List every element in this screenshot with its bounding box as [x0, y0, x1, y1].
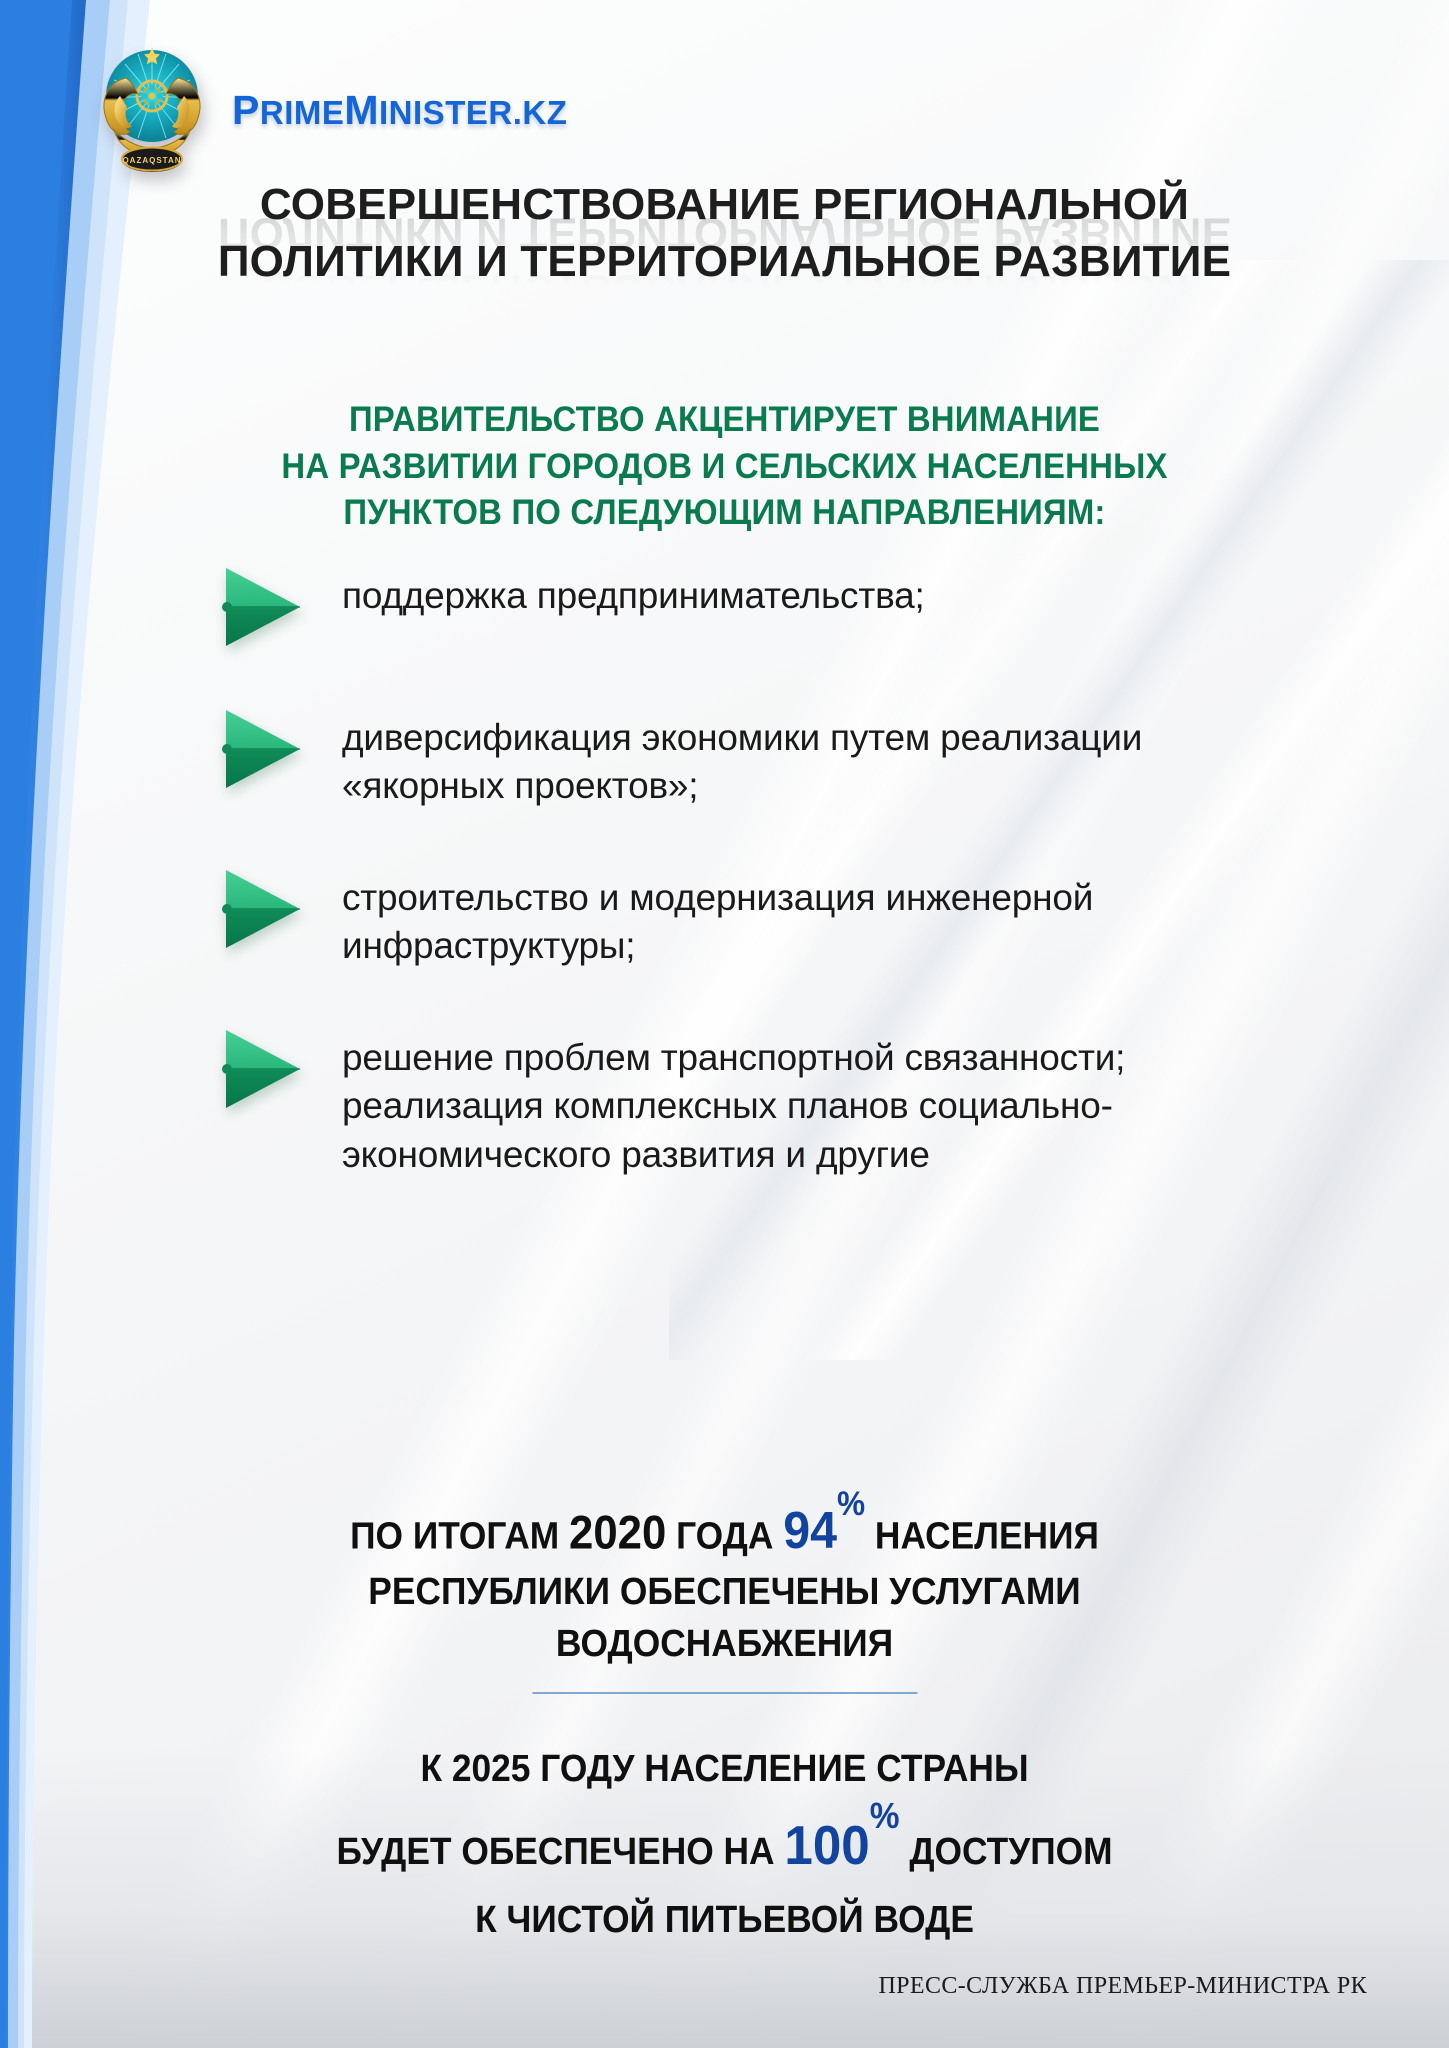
svg-text:QAZAQSTAN: QAZAQSTAN — [122, 156, 181, 165]
brand-text-p: P — [232, 87, 260, 133]
stat-2025-percent-sign: % — [870, 1795, 900, 1836]
page-title-line-1: СОВЕРШЕНСТВОВАНИЕ РЕГИОНАЛЬНОЙ — [0, 176, 1449, 233]
stat-water-2025: К 2025 ГОДУ НАСЕЛЕНИЕ СТРАНЫ БУДЕТ ОБЕСП… — [162, 1739, 1286, 1951]
stat-2025-suffix: ДОСТУПОМ — [899, 1831, 1112, 1873]
green-arrow-icon — [218, 564, 308, 650]
directions-list: поддержка предпринимательства; диверсифи… — [218, 560, 1218, 1231]
brand-text-m: M — [344, 87, 379, 133]
stat-2025-line-2: БУДЕТ ОБЕСПЕЧЕНО НА 100% ДОСТУПОМ — [162, 1801, 1286, 1890]
list-item: поддержка предпринимательства; — [218, 560, 1218, 650]
stat-2020-percent-sign: % — [837, 1485, 865, 1523]
stat-2020-year: 2020 — [569, 1505, 666, 1558]
list-item-text: поддержка предпринимательства; — [342, 560, 925, 620]
stat-2025-prefix: БУДЕТ ОБЕСПЕЧЕНО НА — [336, 1831, 784, 1873]
section-divider — [532, 1692, 917, 1694]
list-item-text: диверсификация экономики путем реализаци… — [342, 702, 1218, 810]
stat-2020-suffix: НАСЕЛЕНИЯ — [865, 1515, 1099, 1557]
page-title-block: СОВЕРШЕНСТВОВАНИЕ РЕГИОНАЛЬНОЙ ПОЛИТИКИ … — [0, 176, 1449, 290]
green-arrow-icon — [218, 706, 308, 792]
green-arrow-icon — [218, 866, 308, 952]
brand-text-rime: RIME — [260, 94, 345, 131]
brand-text-inister: INISTER — [379, 94, 513, 131]
kazakhstan-emblem-icon: QAZAQSTAN — [96, 42, 208, 178]
list-item-text: строительство и модернизация инженерной … — [342, 862, 1218, 970]
stat-2025-percent: 100% — [784, 1814, 899, 1876]
page-title-line-2: ПОЛИТИКИ И ТЕРРИТОРИАЛЬНОЕ РАЗВИТИЕ — [0, 233, 1449, 290]
stat-2020-percent: 94% — [783, 1502, 865, 1560]
page-title: СОВЕРШЕНСТВОВАНИЕ РЕГИОНАЛЬНОЙ ПОЛИТИКИ … — [0, 176, 1449, 290]
stat-water-2020: ПО ИТОГАМ 2020 ГОДА 94% НАСЕЛЕНИЯ РЕСПУБ… — [162, 1496, 1286, 1670]
stat-2020-percent-value: 94 — [783, 1502, 837, 1560]
stat-2020-line-1: ПО ИТОГАМ 2020 ГОДА 94% НАСЕЛЕНИЯ — [162, 1496, 1286, 1567]
subtitle-line-1: ПРАВИТЕЛЬСТВО АКЦЕНТИРУЕТ ВНИМАНИЕ — [43, 397, 1405, 444]
brand-wordmark: PRIMEMINISTER.KZ — [232, 87, 567, 134]
subtitle-line-3: ПУНКТОВ ПО СЛЕДУЮЩИМ НАПРАВЛЕНИЯМ: — [43, 490, 1405, 537]
stat-2025-percent-value: 100 — [784, 1814, 869, 1876]
subtitle: ПРАВИТЕЛЬСТВО АКЦЕНТИРУЕТ ВНИМАНИЕ НА РА… — [43, 397, 1405, 537]
list-item: решение проблем транспортной связанности… — [218, 1022, 1218, 1178]
list-item: диверсификация экономики путем реализаци… — [218, 702, 1218, 810]
green-arrow-icon — [218, 1026, 308, 1112]
subtitle-line-2: НА РАЗВИТИИ ГОРОДОВ И СЕЛЬСКИХ НАСЕЛЕННЫ… — [43, 444, 1405, 491]
list-item: строительство и модернизация инженерной … — [218, 862, 1218, 970]
stat-2020-line-2: РЕСПУБЛИКИ ОБЕСПЕЧЕНЫ УСЛУГАМИ — [162, 1567, 1286, 1619]
infographic-poster: QAZAQSTAN PRIMEMINISTER.KZ СОВЕРШЕНСТВОВ… — [0, 0, 1449, 2048]
list-item-text: решение проблем транспортной связанности… — [342, 1022, 1218, 1178]
footer-credit: ПРЕСС-СЛУЖБА ПРЕМЬЕР-МИНИСТРА РК — [878, 1973, 1367, 2000]
stat-2025-line-1: К 2025 ГОДУ НАСЕЛЕНИЕ СТРАНЫ — [162, 1739, 1286, 1801]
stat-2020-line-3: ВОДОСНАБЖЕНИЯ — [162, 1619, 1286, 1671]
brand-text-kz: .KZ — [513, 94, 568, 131]
stat-2020-prefix: ПО ИТОГАМ — [350, 1515, 569, 1557]
stat-2020-mid: ГОДА — [666, 1515, 783, 1557]
stat-2025-line-3: К ЧИСТОЙ ПИТЬЕВОЙ ВОДЕ — [162, 1890, 1286, 1952]
header: QAZAQSTAN PRIMEMINISTER.KZ — [96, 42, 567, 178]
